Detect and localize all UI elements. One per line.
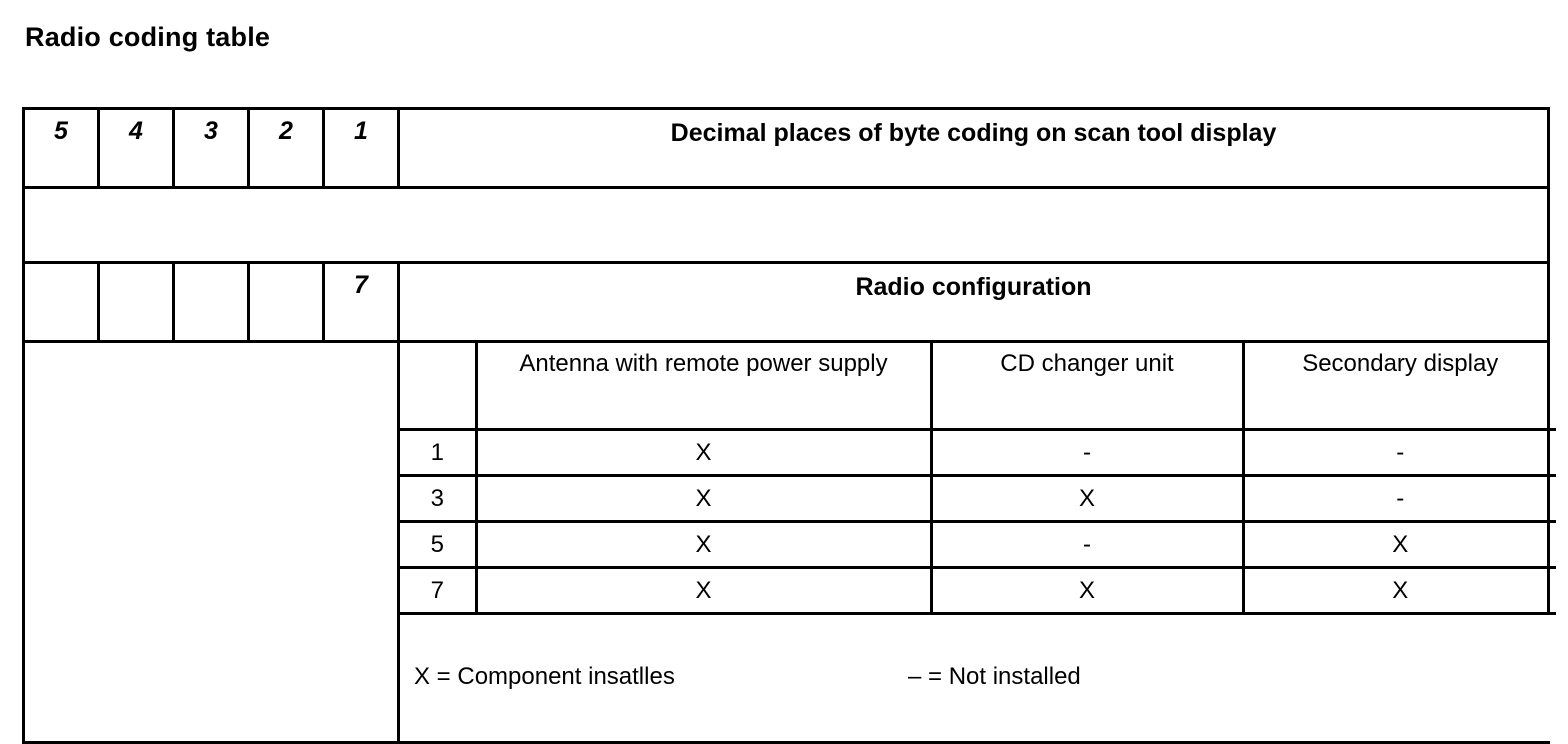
radio-configuration-table: Antenna with remote power supply CD chan… xyxy=(400,343,1556,741)
page-title: Radio coding table xyxy=(25,20,270,54)
active-byte-cell-2 xyxy=(249,263,324,342)
config-cell-cd-changer: X xyxy=(931,568,1243,614)
active-byte-cell-1: 7 xyxy=(324,263,399,342)
table-row-byte-index: 5 4 3 2 1 Decimal places of byte coding … xyxy=(24,109,1549,188)
config-row: 5 X - X xyxy=(400,522,1556,568)
config-cell-antenna: X xyxy=(476,430,931,476)
byte-index-cell-2: 2 xyxy=(249,109,324,188)
config-row: 7 X X X xyxy=(400,568,1556,614)
active-byte-cell-5 xyxy=(24,263,99,342)
config-row-code: 3 xyxy=(400,476,476,522)
config-cell-antenna: X xyxy=(476,568,931,614)
decimal-places-header: Decimal places of byte coding on scan to… xyxy=(399,109,1549,188)
active-byte-cell-3 xyxy=(174,263,249,342)
table-row-active-byte: 7 Radio configuration xyxy=(24,263,1549,342)
byte-index-cell-4: 4 xyxy=(99,109,174,188)
legend-container: X = Component insatlles – = Not installe… xyxy=(400,614,1556,742)
byte-index-cell-5: 5 xyxy=(24,109,99,188)
config-row: 3 X X - xyxy=(400,476,1556,522)
legend-inner: X = Component insatlles – = Not installe… xyxy=(400,615,1556,741)
config-cell-secondary-display: - xyxy=(1243,476,1556,522)
config-header-cd-changer: CD changer unit xyxy=(931,343,1243,430)
config-legend-row: X = Component insatlles – = Not installe… xyxy=(400,614,1556,742)
config-cell-cd-changer: - xyxy=(931,522,1243,568)
config-cell-secondary-display: X xyxy=(1243,522,1556,568)
config-header-code xyxy=(400,343,476,430)
config-cell-antenna: X xyxy=(476,476,931,522)
config-header-antenna: Antenna with remote power supply xyxy=(476,343,931,430)
active-byte-cell-4 xyxy=(99,263,174,342)
empty-left-block xyxy=(24,342,399,743)
config-cell-secondary-display: X xyxy=(1243,568,1556,614)
table-row-configuration: Antenna with remote power supply CD chan… xyxy=(24,342,1549,743)
config-row-code: 7 xyxy=(400,568,476,614)
table-row-blank xyxy=(24,188,1549,263)
config-cell-cd-changer: - xyxy=(931,430,1243,476)
config-row: 1 X - - xyxy=(400,430,1556,476)
config-cell-cd-changer: X xyxy=(931,476,1243,522)
legend-not-installed: – = Not installed xyxy=(908,663,1081,691)
blank-spacer-cell xyxy=(24,188,1549,263)
page-root: Radio coding table 5 4 3 2 1 Decimal pla… xyxy=(0,0,1568,732)
radio-coding-table: 5 4 3 2 1 Decimal places of byte coding … xyxy=(22,107,1550,744)
byte-index-cell-3: 3 xyxy=(174,109,249,188)
radio-configuration-header: Radio configuration xyxy=(399,263,1549,342)
config-header-row: Antenna with remote power supply CD chan… xyxy=(400,343,1556,430)
config-row-code: 1 xyxy=(400,430,476,476)
config-cell-antenna: X xyxy=(476,522,931,568)
config-row-code: 5 xyxy=(400,522,476,568)
config-cell-secondary-display: - xyxy=(1243,430,1556,476)
config-header-secondary-display: Secondary display xyxy=(1243,343,1556,430)
byte-index-cell-1: 1 xyxy=(324,109,399,188)
legend-installed: X = Component insatlles xyxy=(414,663,675,691)
radio-configuration-container: Antenna with remote power supply CD chan… xyxy=(399,342,1549,743)
